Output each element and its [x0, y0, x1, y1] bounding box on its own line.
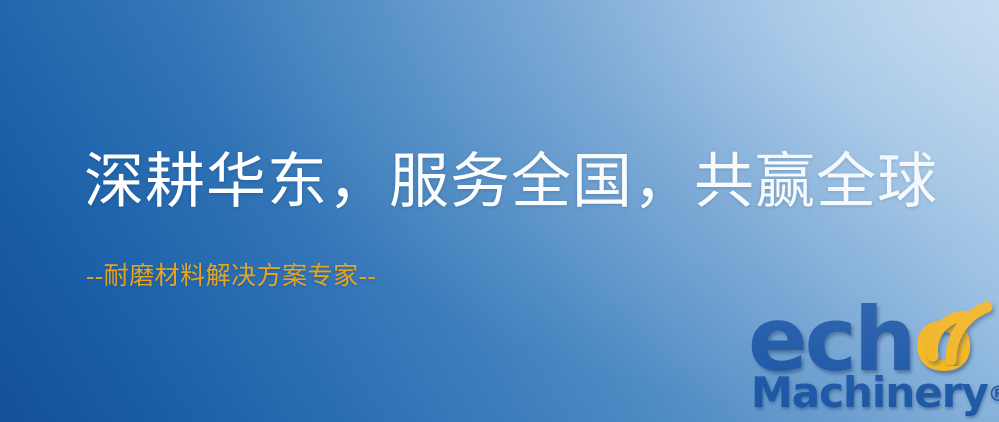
- banner-headline: 深耕华东，服务全国，共赢全球: [84, 152, 938, 212]
- logo-tagline: Machinery®: [751, 372, 999, 415]
- echo-machinery-logo: echo Machinery®: [744, 296, 999, 422]
- registered-trademark-icon: ®: [988, 382, 999, 406]
- logo-tagline-text: Machinery: [751, 368, 988, 417]
- banner-subtitle: --耐磨材料解决方案专家--: [86, 264, 376, 289]
- promo-banner: 深耕华东，服务全国，共赢全球 --耐磨材料解决方案专家-- echo Machi…: [0, 0, 999, 422]
- signal-arcs-icon: [919, 294, 999, 366]
